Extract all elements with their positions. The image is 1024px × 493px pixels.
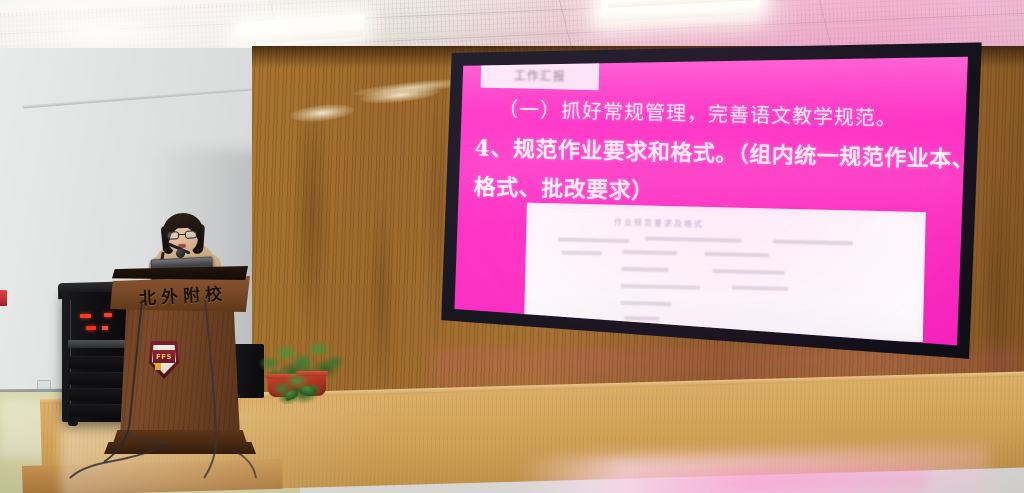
eyeglass-lens-left xyxy=(167,231,179,240)
screen-glare-mid xyxy=(455,146,968,226)
conference-room-scene: 工作汇报 （一）抓好常规管理，完善语文教学规范。 4、规范作业要求和格式。（组内… xyxy=(0,0,1024,493)
rack-led-rec xyxy=(86,326,96,330)
lectern-top xyxy=(110,276,250,312)
doc-line xyxy=(624,316,660,321)
doc-line xyxy=(620,301,672,306)
eyeglass-lens-right xyxy=(185,230,197,239)
doc-line xyxy=(646,237,742,243)
school-crest-letters: FFS xyxy=(153,350,175,363)
doc-line xyxy=(621,250,677,255)
doc-line xyxy=(558,237,630,243)
doc-line xyxy=(713,269,785,275)
screen-display-area[interactable]: 工作汇报 （一）抓好常规管理，完善语文教学规范。 4、规范作业要求和格式。（组内… xyxy=(451,41,970,361)
doc-line xyxy=(620,284,700,290)
rack-led-signal xyxy=(104,313,112,317)
doc-line xyxy=(732,285,788,290)
microphone-icon xyxy=(176,249,185,258)
doc-line xyxy=(621,267,669,272)
rack-led-status xyxy=(102,326,108,330)
rack-caster xyxy=(68,420,78,426)
lectern-plinth xyxy=(104,442,256,454)
projection-screen[interactable]: 工作汇报 （一）抓好常规管理，完善语文教学规范。 4、规范作业要求和格式。（组内… xyxy=(440,30,982,372)
rack-led-power xyxy=(80,314,91,318)
eyeglasses-icon xyxy=(167,230,198,240)
doc-line xyxy=(705,252,769,258)
doc-line xyxy=(773,240,853,246)
plant-foliage-front xyxy=(272,370,324,404)
doc-line xyxy=(561,250,601,255)
wall-red-fixture xyxy=(0,290,7,306)
